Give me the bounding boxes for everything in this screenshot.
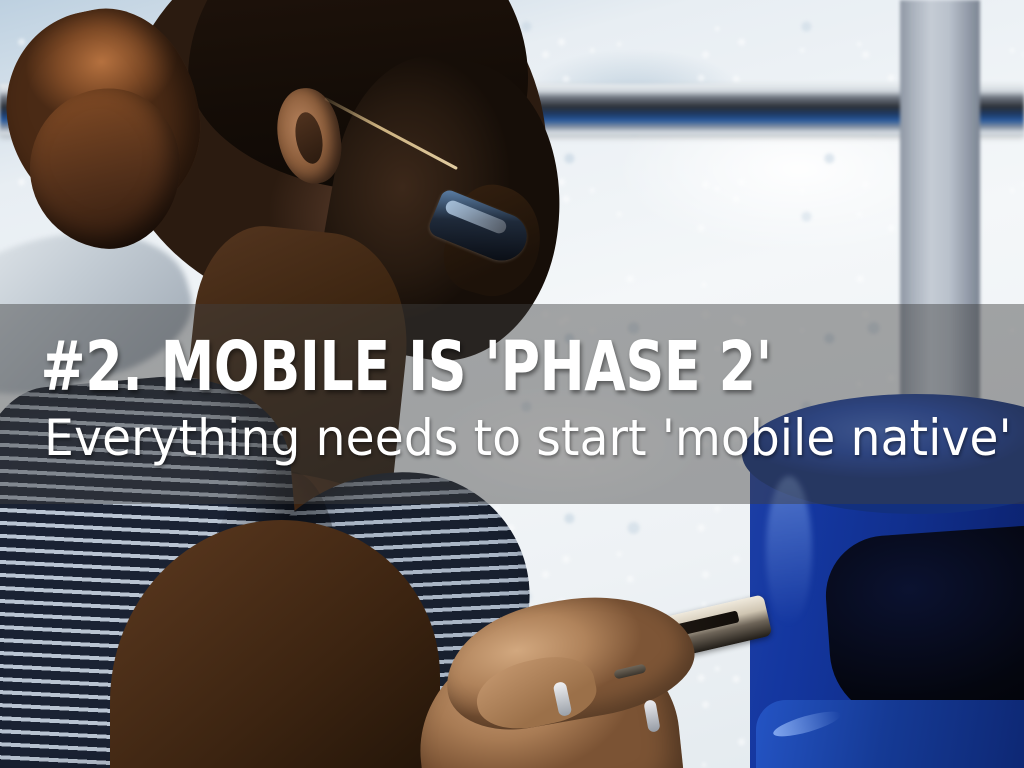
slide-subtitle: Everything needs to start 'mobile native… — [0, 400, 963, 463]
blue-trash-bin-opening — [822, 520, 1024, 724]
slide-title: #2. MOBILE IS 'PHASE 2' — [0, 304, 799, 400]
caption-block: #2. MOBILE IS 'PHASE 2' Everything needs… — [0, 304, 1024, 504]
slide-canvas: #2. MOBILE IS 'PHASE 2' Everything needs… — [0, 0, 1024, 768]
